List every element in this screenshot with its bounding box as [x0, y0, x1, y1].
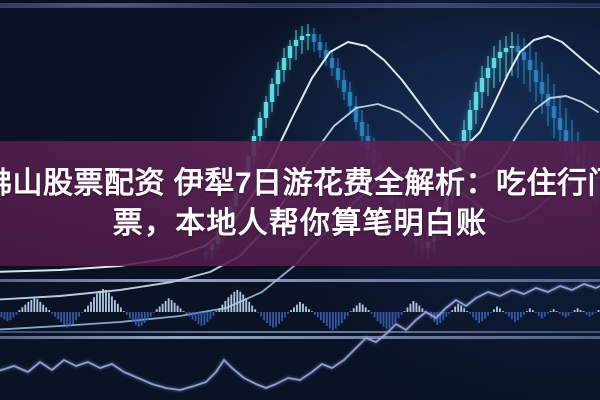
- banner-image: 佛山股票配资 伊犁7日游花费全解析：吃住行门 票，本地人帮你算笔明白账: [0, 0, 600, 400]
- panel-divider-upper: [0, 279, 600, 282]
- headline-line-2: 票，本地人帮你算笔明白账: [113, 208, 487, 240]
- panel-divider-middle: [0, 331, 600, 333]
- panel-divider-lower: [0, 336, 600, 339]
- headline-block: 佛山股票配资 伊犁7日游花费全解析：吃住行门 票，本地人帮你算笔明白账: [0, 141, 600, 266]
- top-divider-rule-secondary: [0, 7, 600, 8]
- headline-line-1: 佛山股票配资 伊犁7日游花费全解析：吃住行门: [0, 168, 600, 200]
